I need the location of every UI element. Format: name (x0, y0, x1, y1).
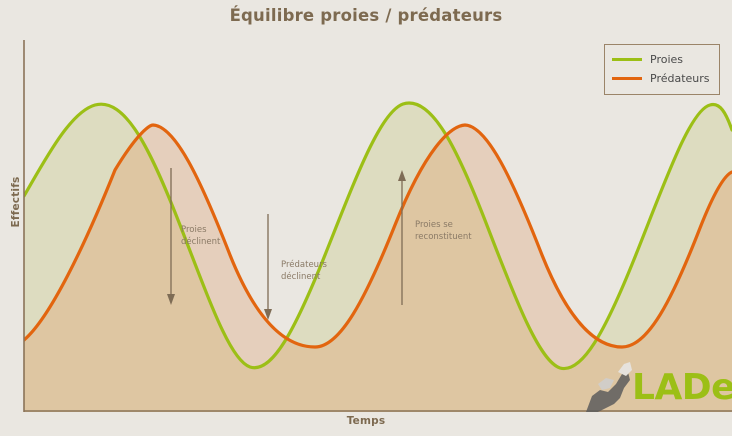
x-axis-label: Temps (0, 415, 732, 427)
legend-swatch-predateurs (612, 77, 642, 80)
y-axis-label: Effectifs (10, 162, 22, 242)
legend-swatch-proies (612, 58, 642, 61)
legend-label-proies: Proies (650, 53, 683, 66)
chart-container: Équilibre proies / prédateurs (0, 0, 732, 436)
legend-item-predateurs[interactable]: Prédateurs (612, 69, 712, 88)
ladel-watermark-text: LADeL (632, 368, 732, 408)
legend-item-proies[interactable]: Proies (612, 50, 712, 69)
annotation-proies-se-reconstituent: Proies se reconstituent (415, 219, 495, 243)
annotation-proies-declinent: Proies déclinent (181, 224, 251, 248)
annotation-arrow-predateurs-declinent (264, 214, 272, 320)
annotation-predateurs-declinent: Prédateurs déclinent (281, 259, 361, 283)
chart-legend: Proies Prédateurs (604, 44, 720, 95)
legend-label-predateurs: Prédateurs (650, 72, 710, 85)
ladel-watermark: LADeL (600, 368, 732, 414)
